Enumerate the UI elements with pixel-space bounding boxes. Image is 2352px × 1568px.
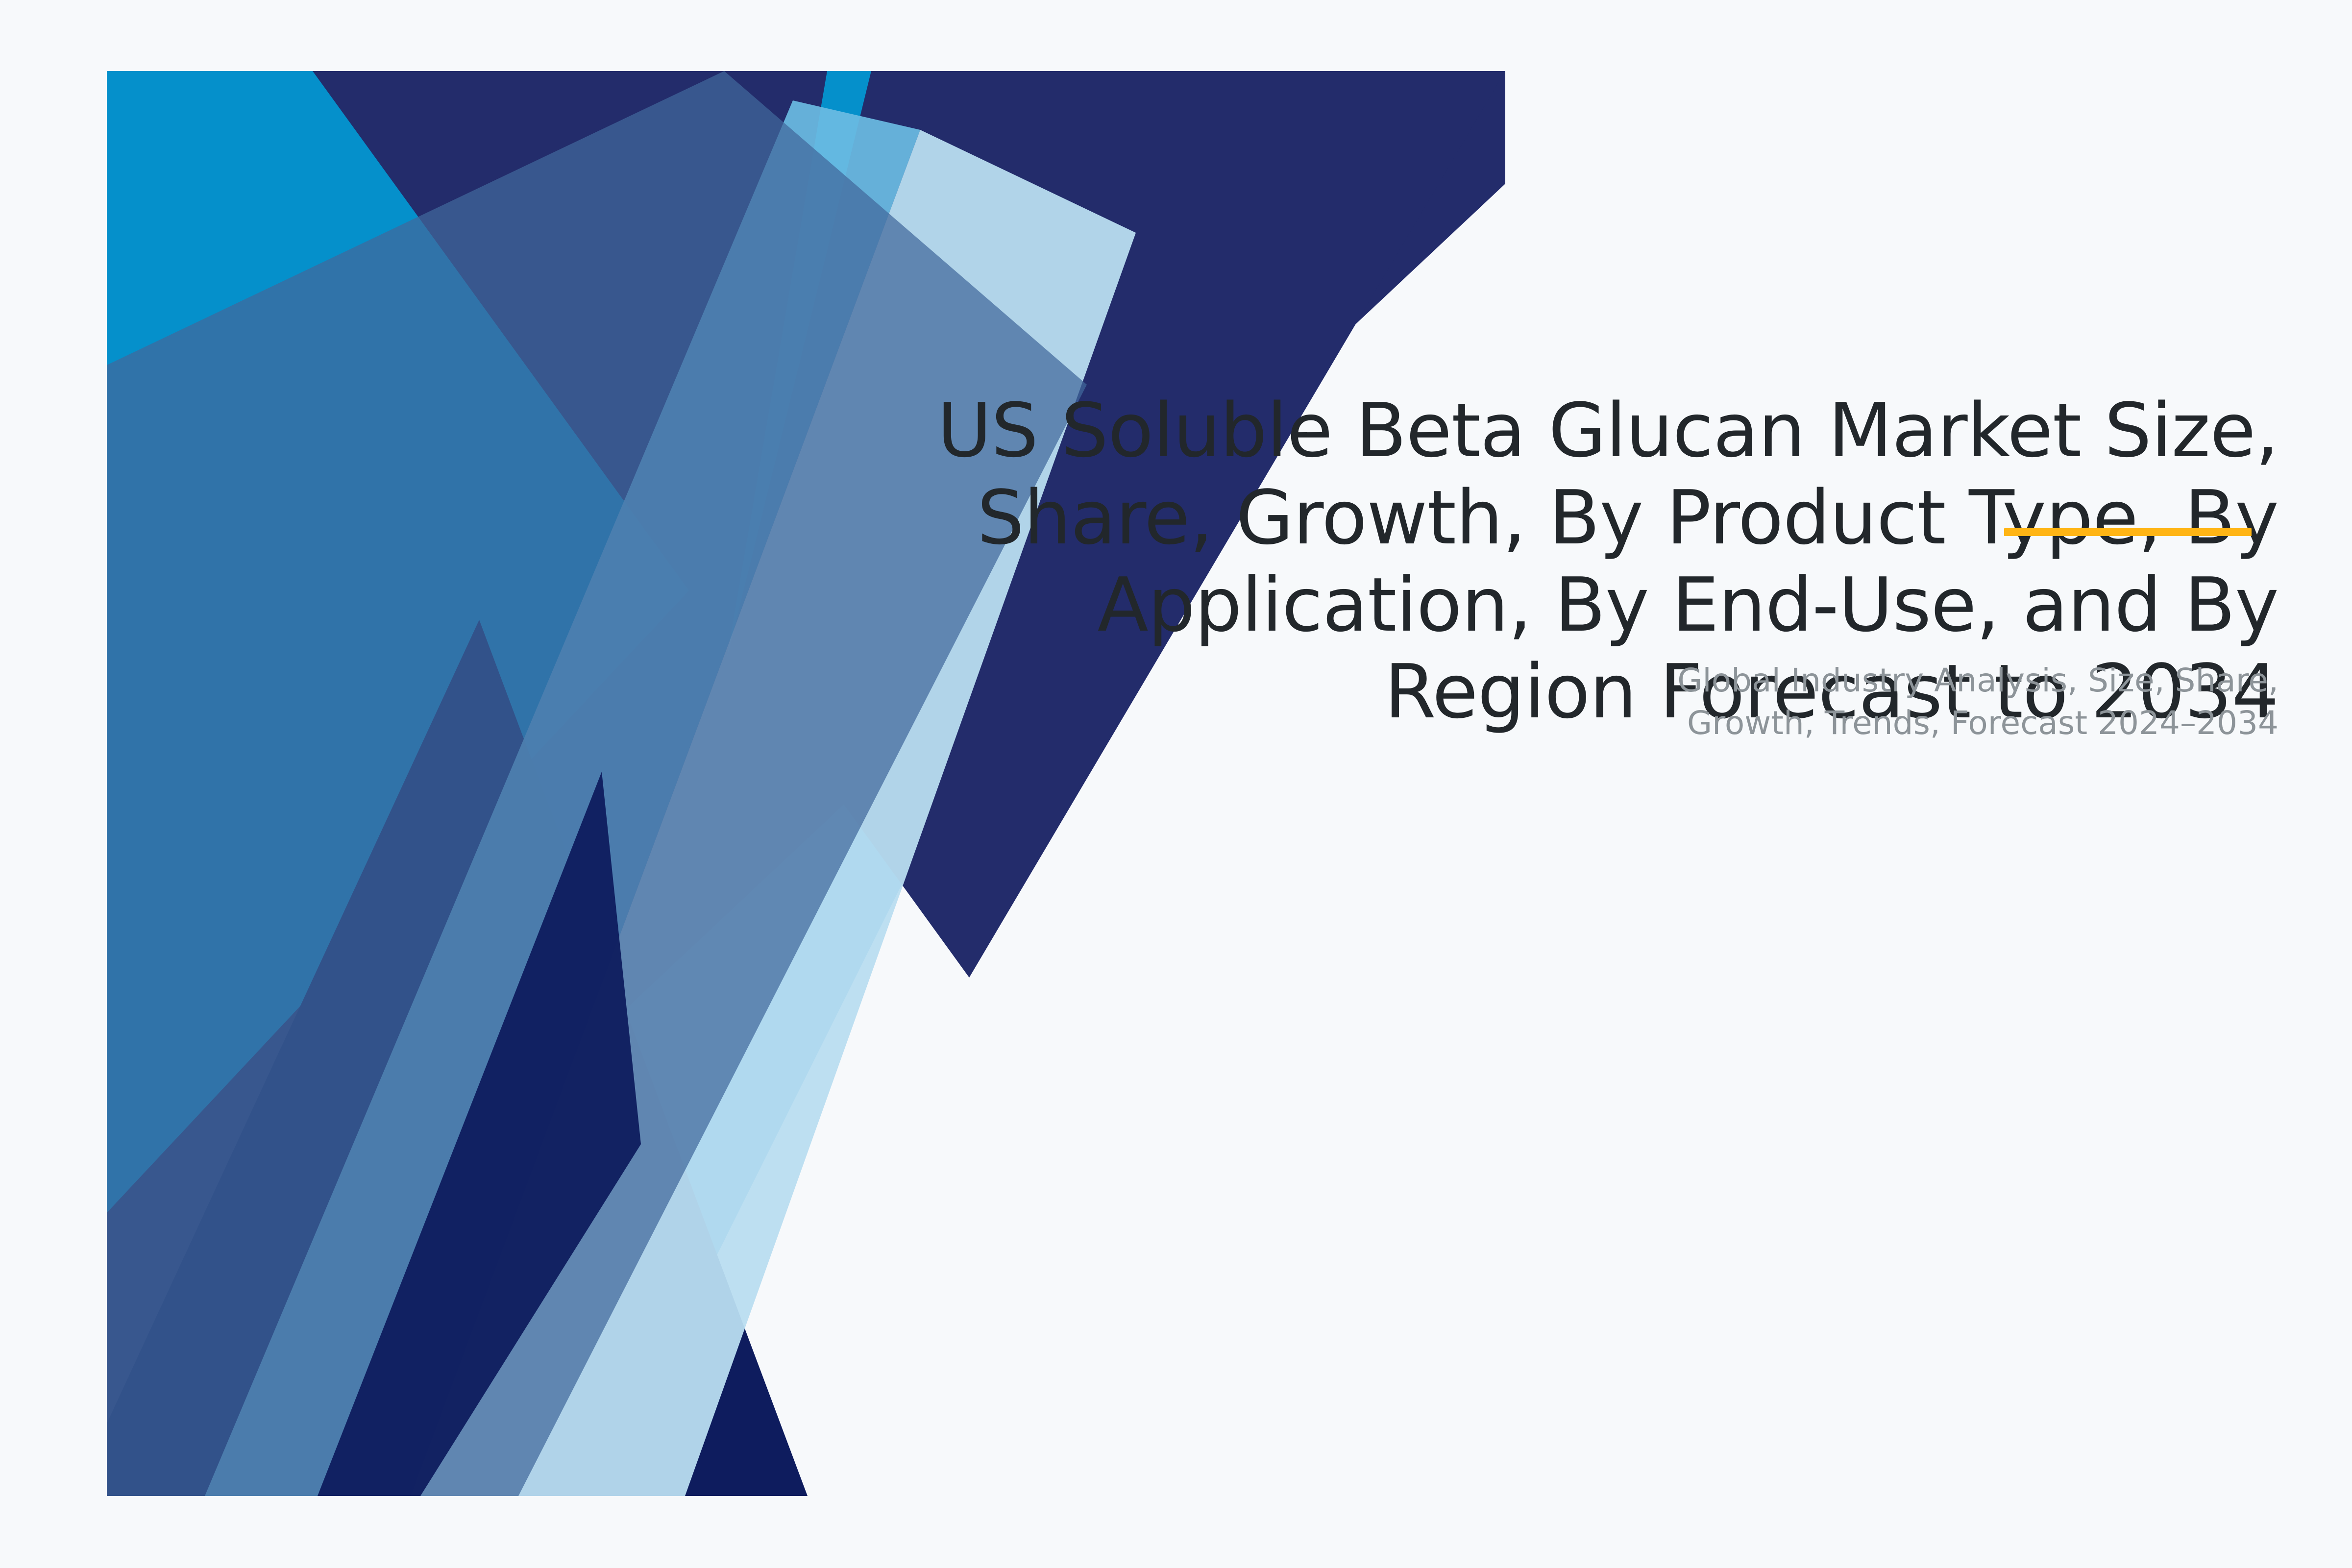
page-subtitle: Global Industry Analysis, Size, Share, G… [1078, 659, 2278, 744]
accent-underline [2004, 528, 2252, 536]
cover-artwork [107, 71, 1505, 1496]
cover-card: US Soluble Beta Glucan Market Size, Shar… [0, 0, 2352, 1568]
polygon-collage-svg [107, 71, 1505, 1496]
cover-subtitle-block: Global Industry Analysis, Size, Share, G… [1078, 659, 2278, 744]
